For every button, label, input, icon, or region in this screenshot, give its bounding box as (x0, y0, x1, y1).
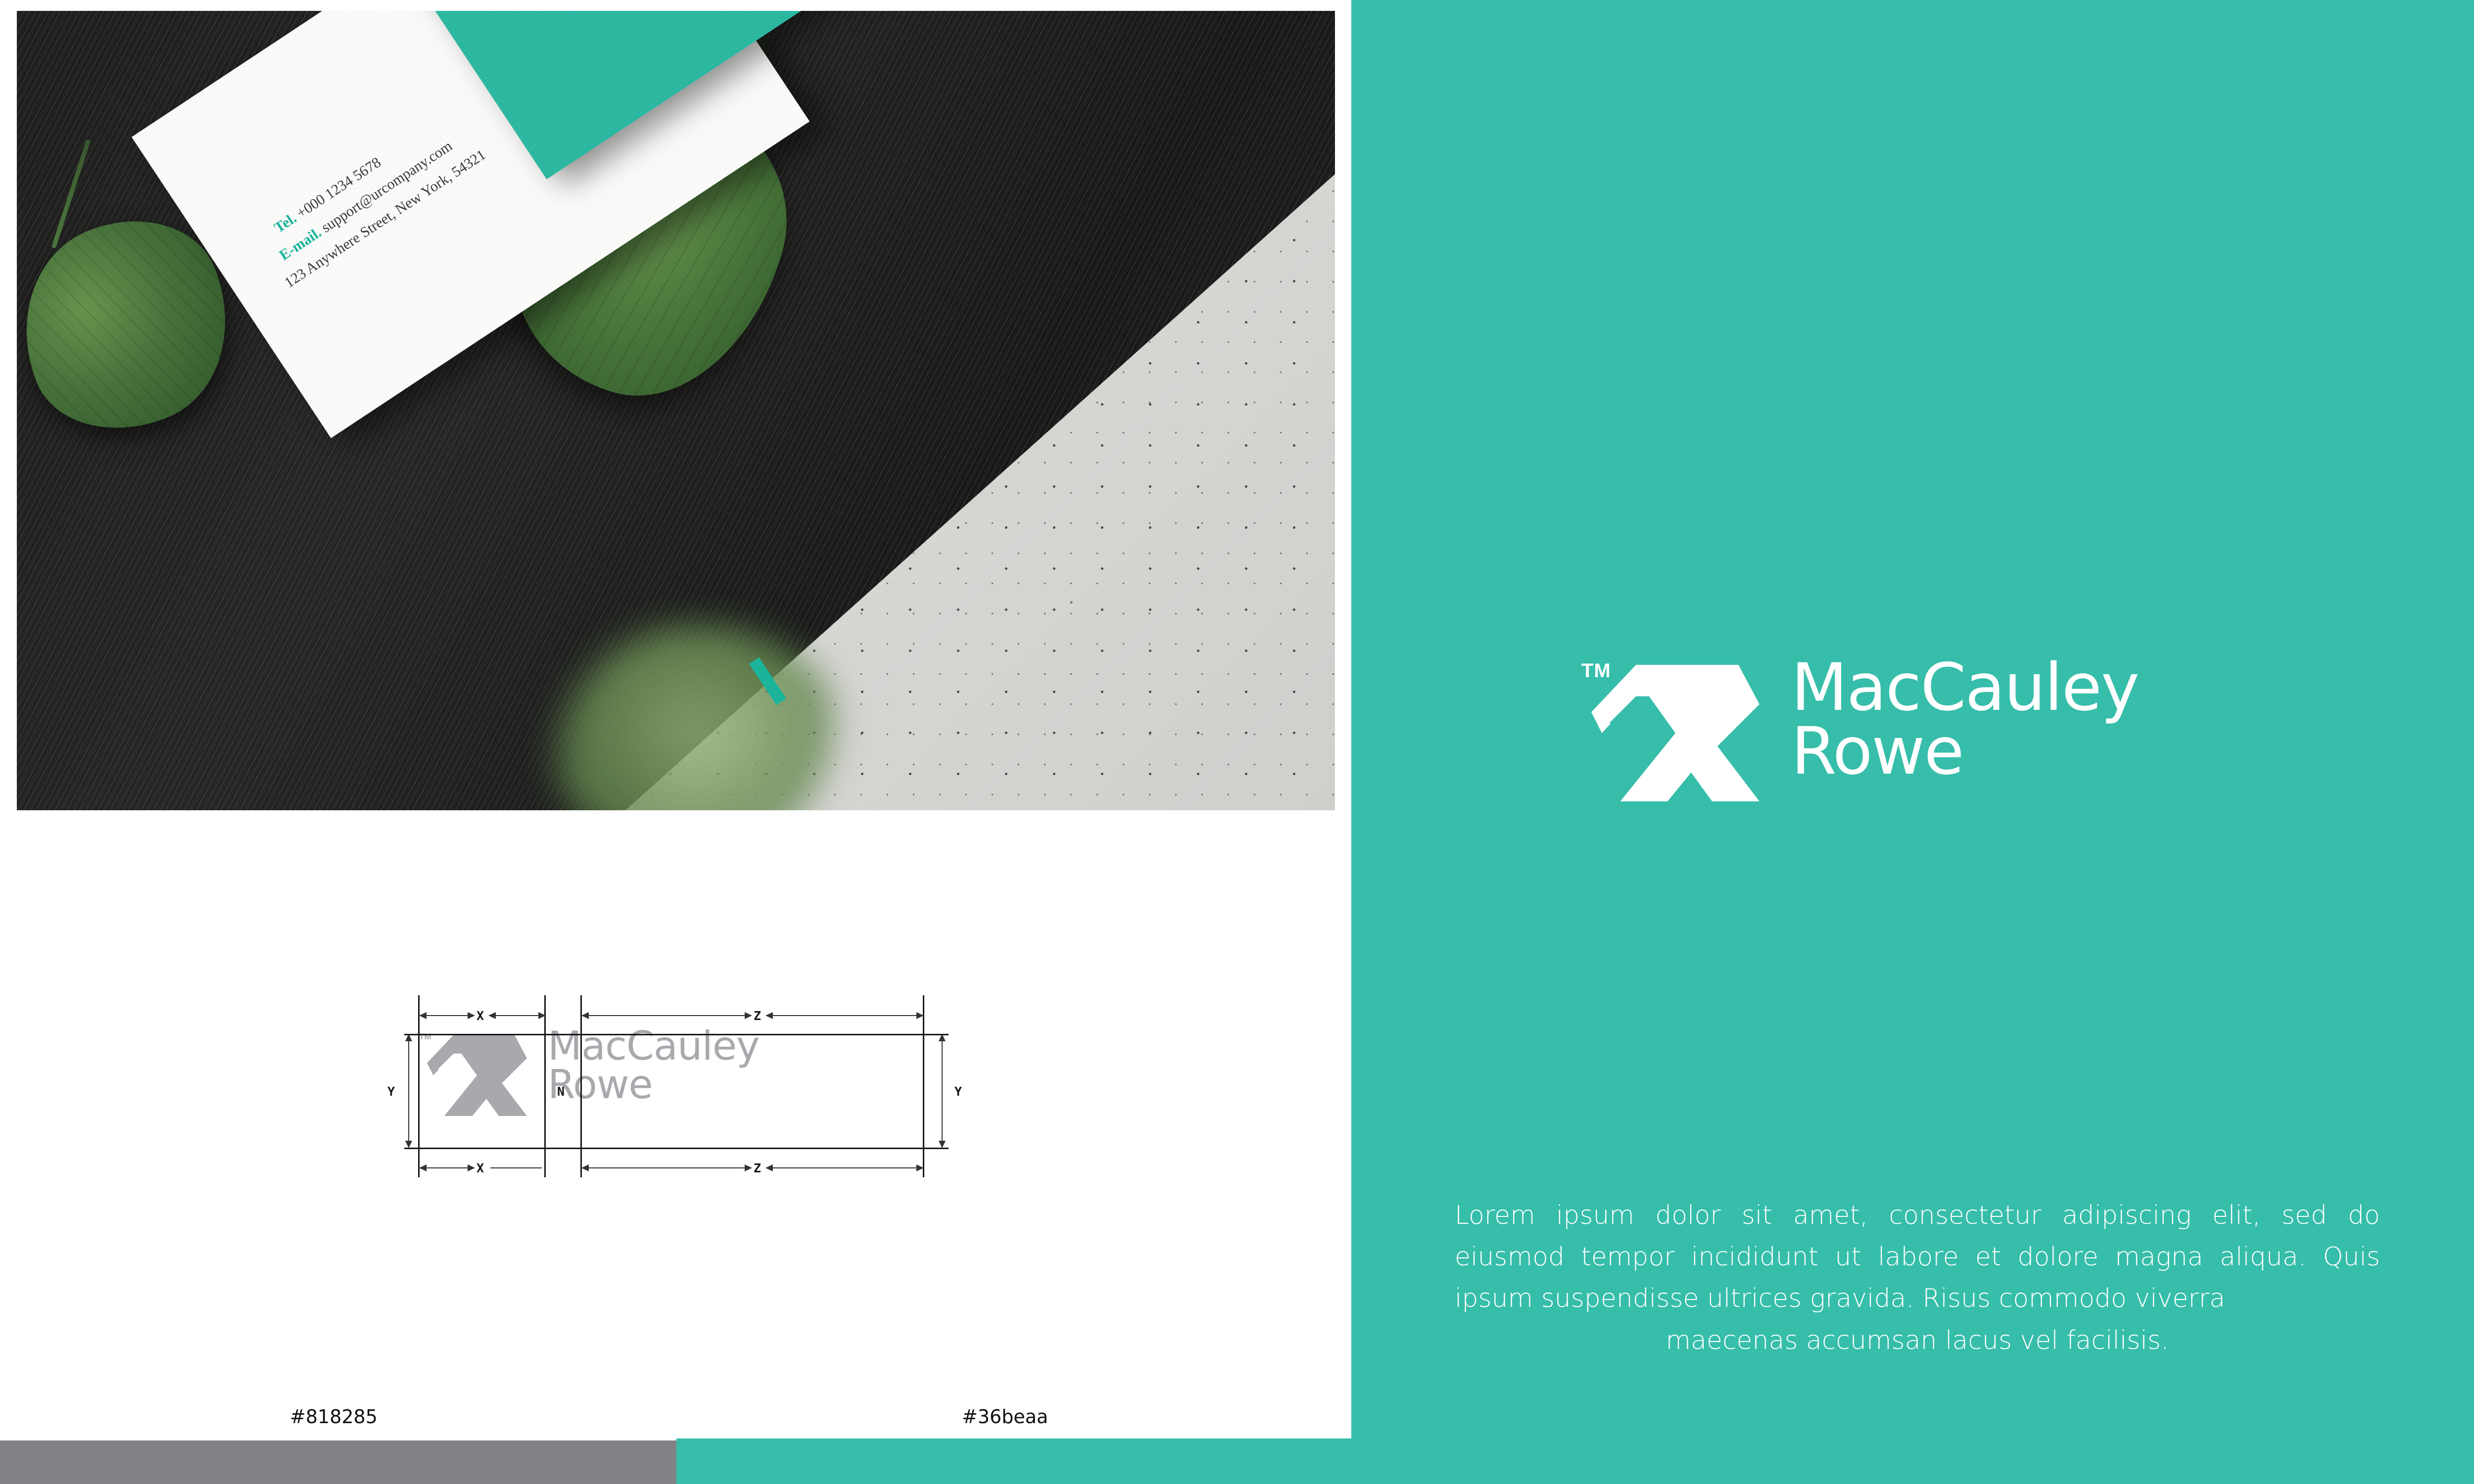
brand-name-line1: MacCauley (1791, 656, 2139, 720)
guide-line-top (404, 1034, 949, 1035)
paragraph-line-2: eiusmod tempor incididunt ut labore et d… (1455, 1242, 2380, 1272)
dim-z-bottom-right-line (770, 1167, 919, 1168)
swatch-bar-gray (0, 1440, 676, 1484)
paragraph-line-3: ipsum suspendisse ultrices gravida. Risu… (1455, 1284, 2225, 1313)
construction-ghost-wordmark: MacCauley Rowe (548, 1027, 759, 1105)
brand-mark-wrapper: TM (1578, 658, 1766, 806)
dim-x-top-right-arrow (538, 1012, 546, 1019)
dim-z-top-left-arrow (581, 1012, 589, 1019)
dim-y-right-line (942, 1037, 943, 1145)
dim-z-top-right-line (770, 1015, 919, 1016)
guide-v-1 (418, 995, 420, 1177)
brand-name-line2: Rowe (1791, 720, 2139, 784)
dim-x-top-left-line (421, 1015, 471, 1016)
maccauley-rowe-monogram-icon (1591, 665, 1760, 804)
dim-y-left-up-arrow (405, 1034, 412, 1041)
dim-x-bottom-mid-arrow (468, 1164, 475, 1171)
dim-z-top-left-line (583, 1015, 749, 1016)
dim-z-bottom-mid-arrow-a (745, 1164, 752, 1171)
construction-monogram-icon (427, 1035, 527, 1118)
guide-v-2 (544, 995, 546, 1177)
dim-x-bottom-left-arrow (419, 1164, 427, 1171)
dim-x-top-right-line (493, 1015, 541, 1016)
guide-v-3 (580, 995, 582, 1177)
guide-line-bottom (404, 1148, 949, 1149)
dim-label-n: N (557, 1084, 565, 1099)
brand-wordmark: MacCauley Rowe (1791, 656, 2139, 784)
swatch-label-gray: #818285 (290, 1406, 378, 1428)
dim-z-bottom-right-arrow (916, 1164, 924, 1171)
dim-x-bottom-right-line (490, 1167, 542, 1168)
dim-z-top-right-arrow (916, 1012, 924, 1019)
dim-label-y-right: Y (954, 1084, 962, 1099)
guide-v-4 (923, 995, 924, 1177)
dim-label-z-top: Z (754, 1009, 761, 1023)
dim-y-right-down-arrow (939, 1141, 946, 1148)
dim-label-x-top: X (476, 1009, 484, 1023)
paragraph-line-4: maecenas accumsan lacus vel facilisis. (1455, 1320, 2380, 1361)
dim-y-left-down-arrow (405, 1141, 412, 1148)
dim-label-y-left: Y (387, 1084, 395, 1099)
brand-description-paragraph: Lorem ipsum dolor sit amet, consectetur … (1455, 1195, 2380, 1361)
dim-y-right-up-arrow (939, 1034, 946, 1041)
dim-x-top-left-arrow (419, 1012, 427, 1019)
dim-z-bottom-left-arrow (581, 1164, 589, 1171)
dim-label-x-bottom: X (476, 1161, 484, 1175)
stationery-mockup-photo: Tel. +000 1234 5678 E-mail. support@urco… (17, 11, 1335, 810)
brand-logo-lockup: TM MacCauley Rowe (1578, 658, 2271, 811)
paragraph-line-1: Lorem ipsum dolor sit amet, consectetur … (1455, 1201, 2380, 1230)
dim-z-bottom-left-line (583, 1167, 749, 1168)
dim-y-left-line (408, 1037, 409, 1145)
dim-label-z-bottom: Z (754, 1161, 761, 1175)
dim-z-top-mid-arrow-a (745, 1012, 752, 1019)
logo-construction-diagram: TM MacCauley Rowe X Z Y Y N X (418, 1004, 952, 1177)
dim-x-bottom-left-line (421, 1167, 471, 1168)
swatch-label-teal: #36beaa (962, 1406, 1048, 1428)
swatch-bar-teal (676, 1438, 1351, 1484)
dim-x-top-mid-arrow-a (468, 1012, 475, 1019)
